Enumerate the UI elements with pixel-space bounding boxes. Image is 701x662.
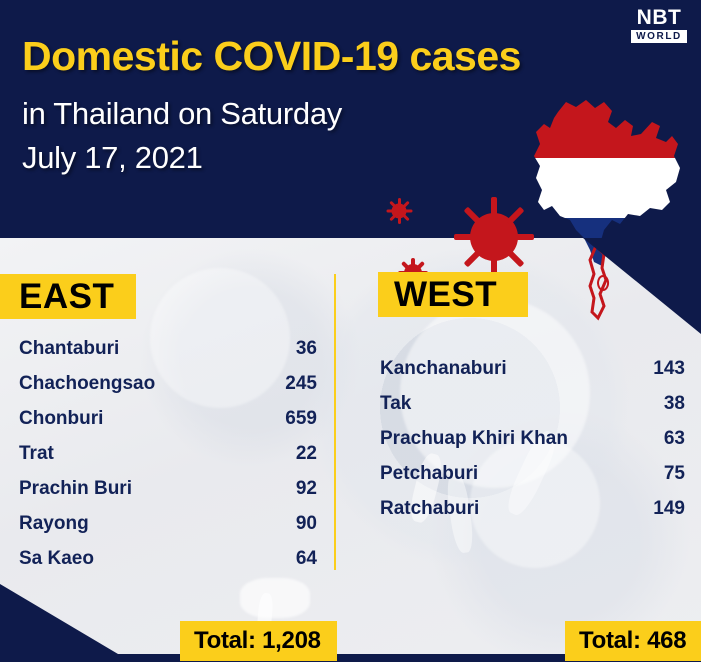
page-subtitle-line1: in Thailand on Saturday [22,96,342,132]
province-row: Tak 38 [380,393,685,428]
header-banner: Domestic COVID-19 cases in Thailand on S… [0,0,701,238]
province-row: Prachin Buri 92 [19,478,317,513]
province-cases: 64 [296,548,317,570]
province-row: Chonburi 659 [19,408,317,443]
province-name: Trat [19,443,54,465]
province-row: Chachoengsao 245 [19,373,317,408]
province-cases: 92 [296,478,317,500]
province-row: Prachuap Khiri Khan 63 [380,428,685,463]
province-row: Trat 22 [19,443,317,478]
corner-triangle-bottom-left [0,584,118,654]
virus-texture-blob [240,578,310,618]
virus-particle-small-icon [386,198,412,224]
province-list-west: Kanchanaburi 143 Tak 38 Prachuap Khiri K… [380,358,685,533]
province-cases: 149 [653,498,685,520]
page-title: Domestic COVID-19 cases [22,33,521,80]
province-name: Petchaburi [380,463,478,485]
province-row: Kanchanaburi 143 [380,358,685,393]
total-badge-east: Total: 1,208 [180,621,337,661]
corner-triangle-top-right [583,238,701,334]
province-name: Ratchaburi [380,498,479,520]
province-row: Sa Kaeo 64 [19,548,317,583]
province-name: Rayong [19,513,89,535]
region-heading-west: WEST [378,272,528,317]
province-cases: 90 [296,513,317,535]
province-name: Chonburi [19,408,103,430]
province-name: Prachin Buri [19,478,132,500]
infographic-root: Domestic COVID-19 cases in Thailand on S… [0,0,701,662]
province-cases: 38 [664,393,685,415]
province-name: Chachoengsao [19,373,155,395]
page-subtitle-line2: July 17, 2021 [22,140,203,176]
province-name: Kanchanaburi [380,358,507,380]
province-name: Sa Kaeo [19,548,94,570]
province-cases: 22 [296,443,317,465]
province-row: Rayong 90 [19,513,317,548]
virus-particle-large-icon [455,198,533,276]
province-cases: 36 [296,338,317,360]
province-name: Chantaburi [19,338,119,360]
province-cases: 63 [664,428,685,450]
province-row: Chantaburi 36 [19,338,317,373]
province-list-east: Chantaburi 36 Chachoengsao 245 Chonburi … [19,338,317,583]
nbt-world-logo: NBT WORLD [631,7,687,43]
province-cases: 659 [285,408,317,430]
province-row: Petchaburi 75 [380,463,685,498]
province-row: Ratchaburi 149 [380,498,685,533]
province-cases: 245 [285,373,317,395]
logo-secondary-text: WORLD [631,30,687,43]
province-cases: 75 [664,463,685,485]
logo-primary-text: NBT [631,7,687,29]
province-cases: 143 [653,358,685,380]
province-name: Tak [380,393,411,415]
region-heading-east: EAST [0,274,136,319]
total-badge-west: Total: 468 [565,621,701,661]
column-divider [334,274,336,570]
province-name: Prachuap Khiri Khan [380,428,568,450]
